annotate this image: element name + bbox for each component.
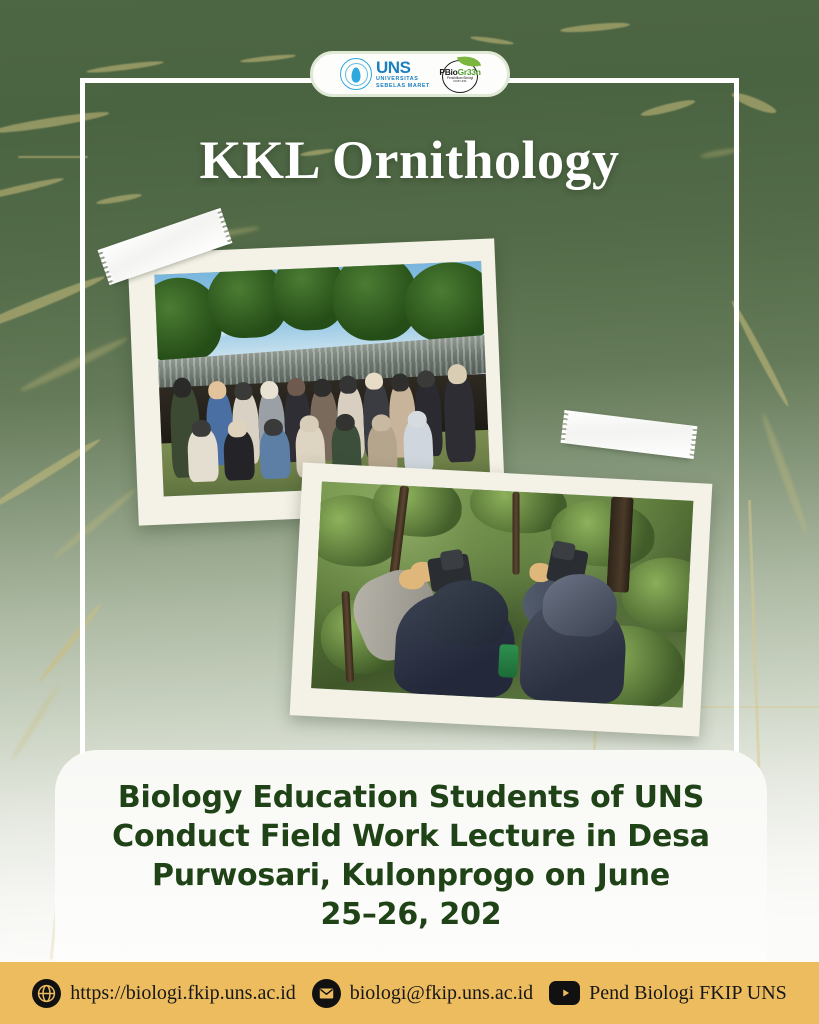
page-title: KKL Ornithology [0,129,819,191]
uns-acronym: UNS [376,59,430,76]
pbio-logo: PBioGr33n Pendidikan Biologi FKIP UNS [440,55,480,93]
birdwatching-photo-card [290,462,713,736]
caption-panel: Biology Education Students of UNS Conduc… [55,750,767,962]
uns-wordmark: UNS UNIVERSITAS SEBELAS MARET [376,59,430,89]
birdwatching-photo-image [311,481,693,707]
uns-line1: UNIVERSITAS [376,77,430,82]
footer-youtube-label: Pend Biologi FKIP UNS [589,982,787,1005]
poster-root: UNS UNIVERSITAS SEBELAS MARET PBioGr33n … [0,0,819,1024]
caption-line-3: Purwosari, Kulonprogo on June [112,856,710,895]
caption-line-4: 25–26, 202 [112,895,710,934]
uns-logo: UNS UNIVERSITAS SEBELAS MARET [340,58,430,90]
footer-email[interactable]: biologi@fkip.uns.ac.id [312,979,533,1008]
envelope-icon [312,979,341,1008]
group-photo-image [154,261,490,496]
caption-line-2: Conduct Field Work Lecture in Desa [112,817,710,856]
footer-contact-bar: https://biologi.fkip.uns.ac.id biologi@f… [0,962,819,1024]
caption-line-1: Biology Education Students of UNS [112,778,710,817]
pbio-sub2: FKIP UNS [439,80,480,83]
footer-email-label: biologi@fkip.uns.ac.id [350,982,533,1005]
uns-seal-icon [340,58,372,90]
globe-icon [32,979,61,1008]
footer-website-label: https://biologi.fkip.uns.ac.id [70,982,296,1005]
uns-line2: SEBELAS MARET [376,84,430,89]
footer-website[interactable]: https://biologi.fkip.uns.ac.id [32,979,296,1008]
footer-youtube[interactable]: Pend Biologi FKIP UNS [549,981,787,1005]
youtube-icon [549,981,580,1005]
pbio-wordmark: PBioGr33n Pendidikan Biologi FKIP UNS [439,68,480,83]
caption-text: Biology Education Students of UNS Conduc… [88,778,734,934]
institution-logos: UNS UNIVERSITAS SEBELAS MARET PBioGr33n … [310,51,510,97]
